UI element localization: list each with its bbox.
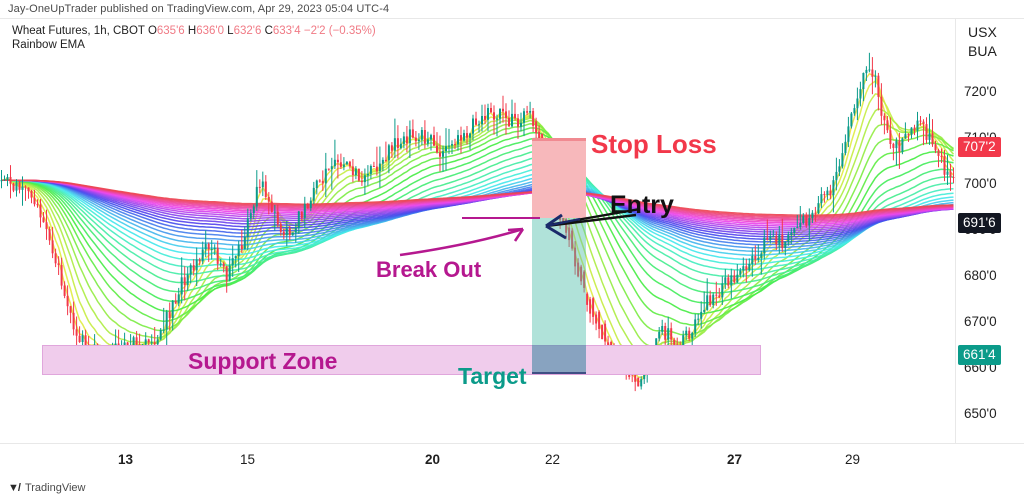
tradingview-logo: ▼/ TradingView xyxy=(8,482,86,494)
time-tick: 20 xyxy=(425,452,440,467)
chart-canvas[interactable]: Stop Loss Entry Break Out Support Zone T… xyxy=(0,19,955,443)
high-price-badge[interactable]: 707'2 xyxy=(958,137,1001,157)
time-tick: 13 xyxy=(118,452,133,467)
time-axis[interactable]: 131520222729 xyxy=(0,443,1024,477)
last-price-badge[interactable]: 691'6 xyxy=(958,213,1001,233)
price-tick: 680'0 xyxy=(964,268,997,283)
target-price-badge[interactable]: 661'4 xyxy=(958,345,1001,365)
axis-symbol-line2: BUA xyxy=(968,43,997,59)
price-tick: 650'0 xyxy=(964,406,997,421)
axis-symbol-line1: USX xyxy=(968,24,997,40)
stop-loss-label: Stop Loss xyxy=(591,129,717,160)
support-zone-label: Support Zone xyxy=(188,348,337,375)
tradingview-chart-screenshot: Jay-OneUpTrader published on TradingView… xyxy=(0,0,1024,502)
time-tick: 27 xyxy=(727,452,742,467)
time-tick: 15 xyxy=(240,452,255,467)
publisher-text: Jay-OneUpTrader published on TradingView… xyxy=(8,3,389,15)
time-tick: 22 xyxy=(545,452,560,467)
price-tick: 700'0 xyxy=(964,176,997,191)
price-axis[interactable]: USX BUA 720'0710'0700'0690'0680'0670'066… xyxy=(955,19,1024,443)
price-tick: 670'0 xyxy=(964,314,997,329)
breakout-arrow-line xyxy=(400,229,523,255)
tradingview-mark-icon: ▼/ xyxy=(8,482,20,494)
entry-label: Entry xyxy=(610,191,674,220)
footer: ▼/ TradingView xyxy=(0,477,1024,502)
price-tick: 720'0 xyxy=(964,84,997,99)
break-out-label: Break Out xyxy=(376,257,481,283)
tradingview-wordmark: TradingView xyxy=(25,482,86,494)
publisher-bar: Jay-OneUpTrader published on TradingView… xyxy=(0,0,1024,19)
target-label: Target xyxy=(458,363,527,390)
time-tick: 29 xyxy=(845,452,860,467)
